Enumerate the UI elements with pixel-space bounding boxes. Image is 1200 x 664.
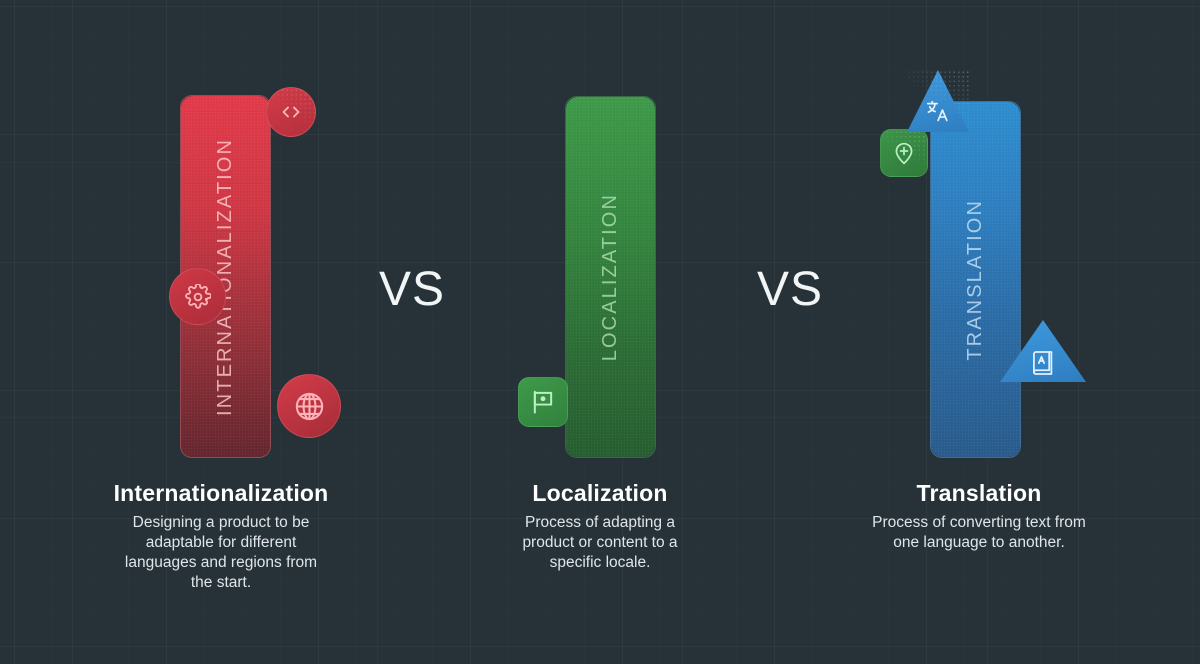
infographic-canvas: INTERNATIONALIZATION bbox=[0, 0, 1200, 664]
gear-icon bbox=[185, 284, 211, 310]
bar-translation[interactable]: TRANSLATION bbox=[930, 101, 1021, 458]
flag-icon bbox=[529, 388, 557, 416]
code-icon bbox=[279, 100, 303, 124]
vs-separator-2: VS bbox=[730, 260, 850, 320]
caption-internationalization: Internationalization Designing a product… bbox=[31, 478, 411, 593]
bar-area: LOCALIZATION bbox=[410, 0, 790, 470]
translate-icon-badge[interactable] bbox=[907, 70, 969, 132]
caption-localization: Localization Process of adapting a produ… bbox=[410, 478, 790, 573]
concept-description: Process of adapting a product or content… bbox=[503, 513, 698, 573]
bar-localization[interactable]: LOCALIZATION bbox=[565, 96, 656, 458]
code-icon-badge[interactable] bbox=[266, 87, 316, 137]
bar-area: INTERNATIONALIZATION bbox=[31, 0, 411, 470]
gear-icon-badge[interactable] bbox=[169, 268, 226, 325]
bar-fill bbox=[566, 97, 655, 457]
concept-translation: TRANSLATION bbox=[789, 0, 1169, 664]
caption-translation: Translation Process of converting text f… bbox=[789, 478, 1169, 553]
concept-title: Internationalization bbox=[31, 478, 411, 508]
dictionary-book-icon-badge[interactable] bbox=[1000, 320, 1086, 382]
dictionary-book-icon bbox=[1029, 349, 1057, 377]
concept-description: Designing a product to be adaptable for … bbox=[114, 513, 329, 593]
flag-icon-badge[interactable] bbox=[518, 377, 568, 427]
concept-internationalization: INTERNATIONALIZATION bbox=[31, 0, 411, 664]
concept-title: Translation bbox=[789, 478, 1169, 508]
bar-area: TRANSLATION bbox=[789, 0, 1169, 470]
globe-icon-badge[interactable] bbox=[277, 374, 341, 438]
translate-icon bbox=[925, 98, 951, 124]
bar-fill bbox=[931, 102, 1020, 457]
concept-columns: INTERNATIONALIZATION bbox=[0, 0, 1200, 664]
globe-icon bbox=[293, 390, 326, 423]
vs-separator-1: VS bbox=[352, 260, 472, 320]
concept-localization: LOCALIZATION bbox=[410, 0, 790, 664]
concept-title: Localization bbox=[410, 478, 790, 508]
concept-description: Process of converting text from one lang… bbox=[872, 513, 1087, 553]
